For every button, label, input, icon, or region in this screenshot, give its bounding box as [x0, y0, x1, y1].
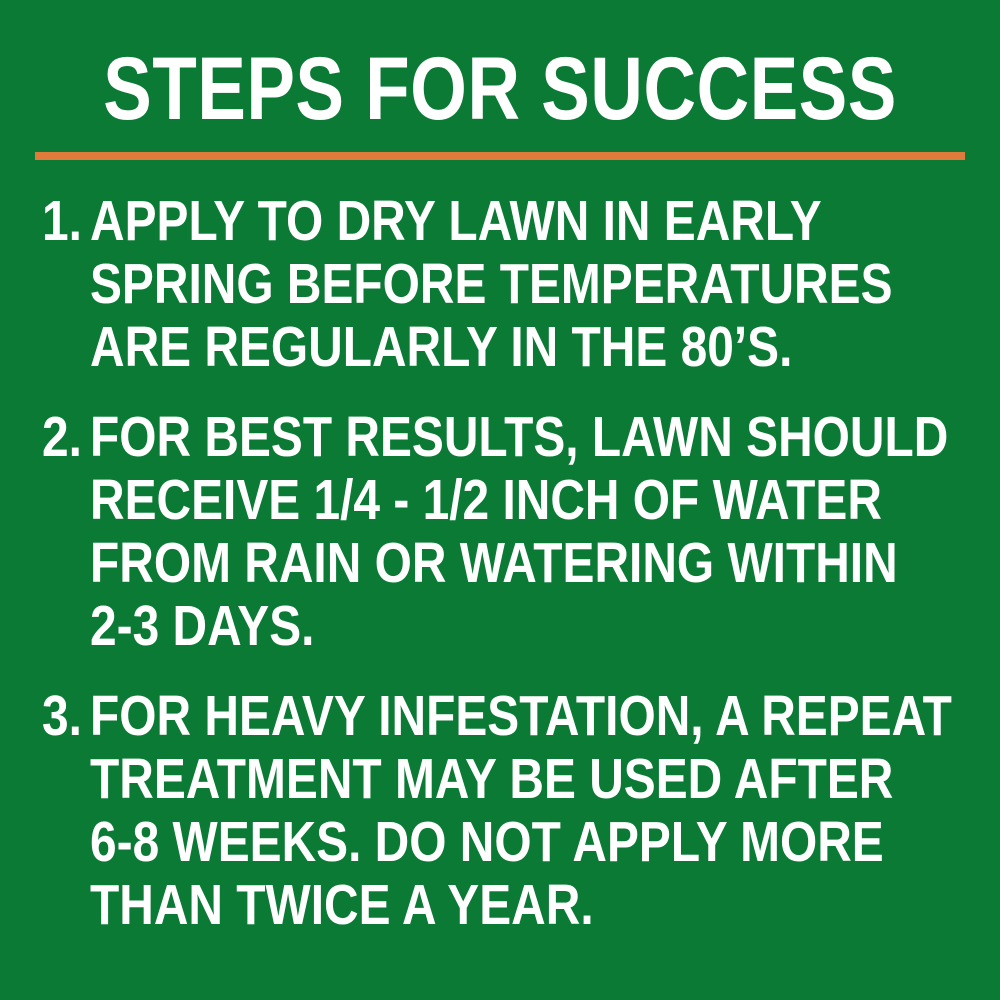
- step-text: APPLY TO DRY LAWN IN EARLY SPRING BEFORE…: [90, 190, 980, 379]
- accent-divider: [35, 152, 965, 160]
- list-item: 1. APPLY TO DRY LAWN IN EARLY SPRING BEF…: [42, 190, 980, 379]
- step-text-line: ARE REGULARLY IN THE 80’S.: [90, 316, 838, 379]
- steps-for-success-panel: STEPS FOR SUCCESS 1. APPLY TO DRY LAWN I…: [0, 0, 1000, 1000]
- step-number: 1.: [42, 190, 82, 253]
- step-text-line: TREATMENT MAY BE USED AFTER: [90, 748, 838, 811]
- step-text-line: 2-3 DAYS.: [90, 595, 838, 658]
- step-text: FOR BEST RESULTS, LAWN SHOULD RECEIVE 1/…: [90, 406, 980, 658]
- step-text-line: APPLY TO DRY LAWN IN EARLY: [90, 190, 838, 253]
- page-title: STEPS FOR SUCCESS: [90, 46, 910, 131]
- list-item: 2. FOR BEST RESULTS, LAWN SHOULD RECEIVE…: [42, 406, 980, 658]
- list-item: 3. FOR HEAVY INFESTATION, A REPEAT TREAT…: [42, 685, 980, 937]
- title-block: STEPS FOR SUCCESS: [0, 0, 1000, 131]
- steps-list: 1. APPLY TO DRY LAWN IN EARLY SPRING BEF…: [0, 190, 1000, 937]
- step-text-line: 6-8 WEEKS. DO NOT APPLY MORE: [90, 811, 838, 874]
- step-text-line: RECEIVE 1/4 - 1/2 INCH OF WATER: [90, 469, 838, 532]
- step-text: FOR HEAVY INFESTATION, A REPEAT TREATMEN…: [90, 685, 980, 937]
- divider-wrapper: [0, 152, 1000, 160]
- step-text-line: SPRING BEFORE TEMPERATURES: [90, 253, 838, 316]
- step-number: 2.: [42, 406, 82, 469]
- step-text-line: FOR HEAVY INFESTATION, A REPEAT: [90, 685, 838, 748]
- step-text-line: FROM RAIN OR WATERING WITHIN: [90, 532, 838, 595]
- step-text-line: THAN TWICE A YEAR.: [90, 874, 838, 937]
- step-number: 3.: [42, 685, 82, 748]
- step-text-line: FOR BEST RESULTS, LAWN SHOULD: [90, 406, 838, 469]
